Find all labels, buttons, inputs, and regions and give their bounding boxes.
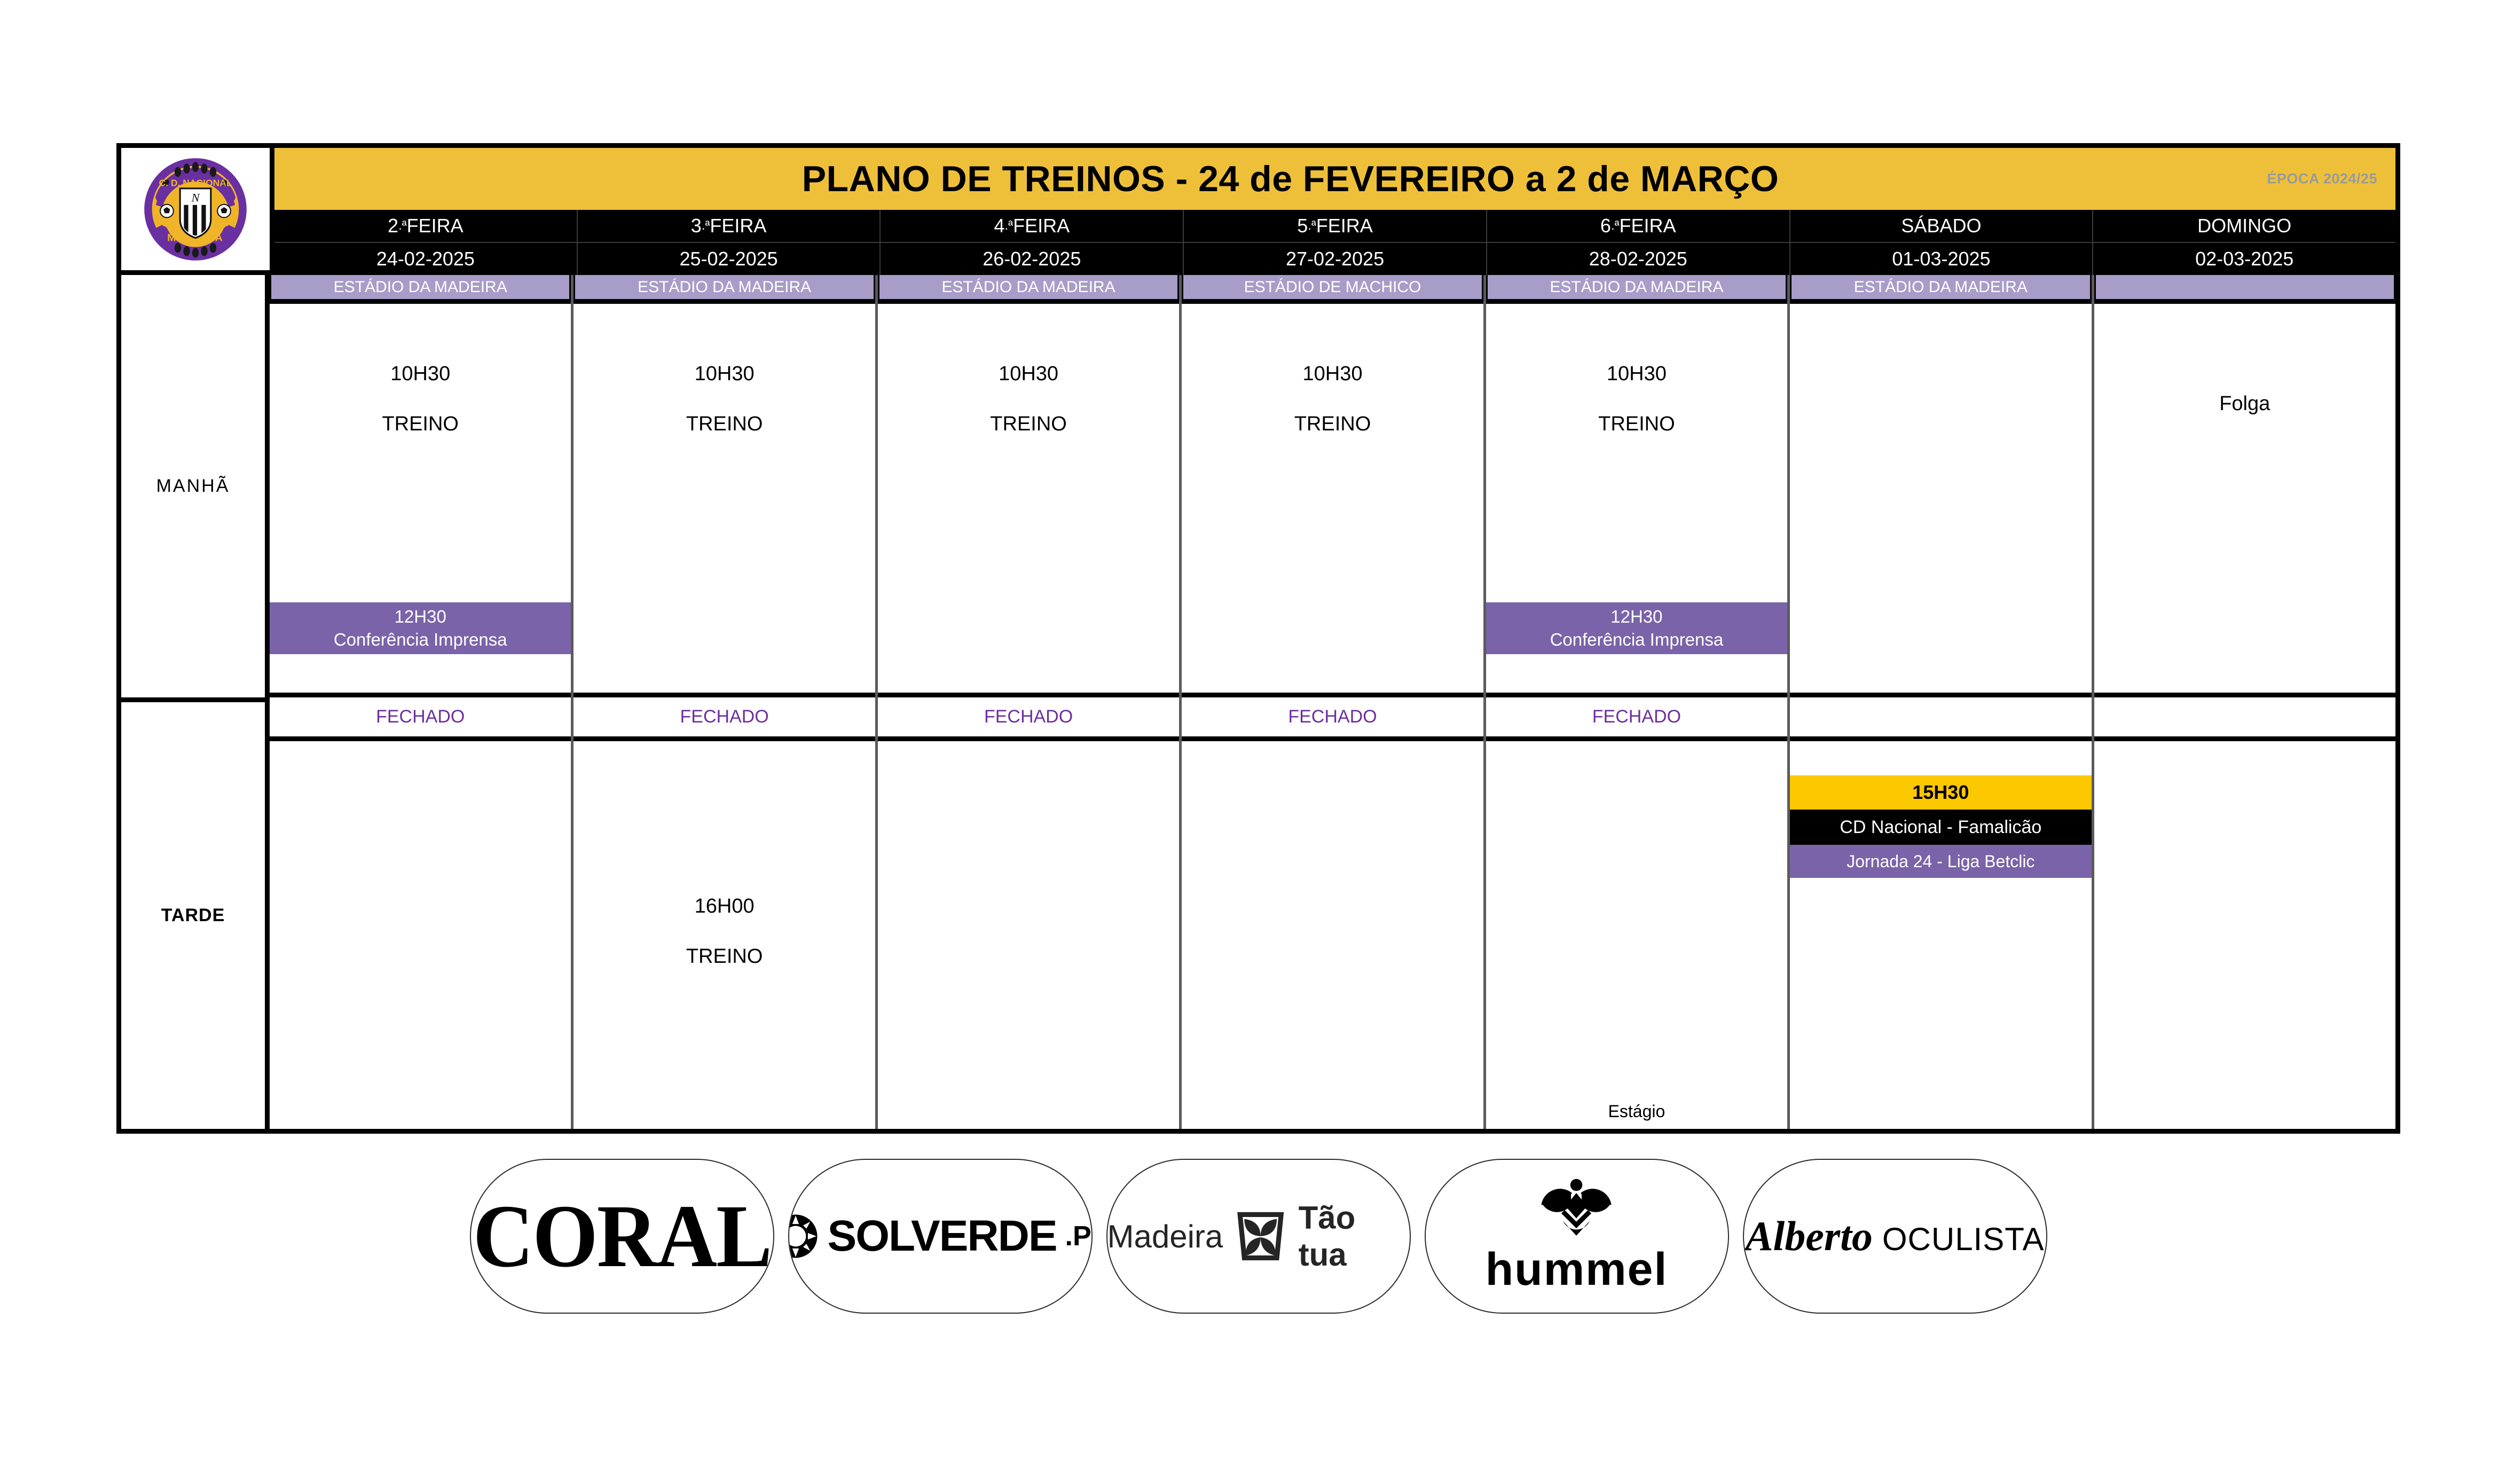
training-session: 10H30 TREINO [573, 364, 875, 434]
svg-text:C. D. NACIONAL: C. D. NACIONAL [159, 177, 232, 188]
match-time: 15H30 [1790, 775, 2091, 810]
session-kind: TREINO [1486, 414, 1787, 434]
day-date: 02-03-2025 [2093, 242, 2395, 275]
sponsor-alberto-oculista: Alberto OCULISTA [1743, 1159, 2047, 1314]
press-label: Conferência Imprensa [334, 629, 507, 651]
day-column-thursday: ESTÁDIO DE MACHICO 10H30 TREINO FECHADO [1182, 275, 1486, 1129]
madeira-wordmark: Madeira [1107, 1218, 1223, 1255]
morning-cell: 10H30 TREINO [878, 304, 1179, 697]
sponsor-madeira-taotua: Madeira Tão tua [1106, 1159, 1411, 1314]
session-kind: TREINO [686, 946, 763, 967]
day-column-sunday: Folga [2094, 275, 2395, 1129]
page-title: PLANO DE TREINOS - 24 de FEVEREIRO a 2 d… [121, 148, 2395, 210]
closed-label [2094, 697, 2395, 741]
period-label-afternoon: TARDE [121, 702, 265, 1129]
solverde-tld: .PT [1065, 1220, 1093, 1252]
training-session: 10H30 TREINO [1486, 364, 1787, 434]
day-date: 25-02-2025 [578, 242, 880, 275]
venue-bar: ESTÁDIO DE MACHICO [1182, 275, 1483, 304]
svg-text:N: N [191, 191, 200, 204]
hummel-bee-icon [1536, 1177, 1616, 1241]
afternoon-note [1182, 1121, 1483, 1129]
sponsor-solverde: SOLVERDE.PT [788, 1159, 1093, 1314]
press-time: 12H30 [395, 606, 446, 628]
press-conference-block: 12H30 Conferência Imprensa [270, 602, 571, 654]
day-header-cell: 2.ª FEIRA 24-02-2025 [274, 210, 578, 275]
schedule-board: PLANO DE TREINOS - 24 de FEVEREIRO a 2 d… [116, 143, 2400, 1134]
club-crest-container: C. D. NACIONAL MADEIRA [121, 148, 274, 275]
morning-cell: Folga [2094, 304, 2395, 697]
rest-day-label: Folga [2094, 394, 2395, 414]
closed-label: FECHADO [1182, 697, 1483, 741]
day-header-row: 2.ª FEIRA 24-02-2025 3.ª FEIRA 25-02-202… [274, 210, 2395, 275]
afternoon-cell: 16H00 TREINO [573, 741, 875, 1129]
hummel-wordmark: hummel [1486, 1243, 1668, 1296]
match-teams: CD Nacional - Famalicão [1790, 810, 2091, 845]
afternoon-cell: 15H30 CD Nacional - Famalicão Jornada 24… [1790, 741, 2091, 1129]
afternoon-note [270, 1121, 571, 1129]
day-name: DOMINGO [2093, 210, 2395, 242]
venue-bar: ESTÁDIO DA MADEIRA [878, 275, 1179, 304]
days-area: ESTÁDIO DA MADEIRA 10H30 TREINO 12H30 Co… [270, 275, 2395, 1129]
training-session [1790, 364, 2091, 394]
training-session: 10H30 TREINO [270, 364, 571, 434]
coral-wordmark: CORAL [473, 1185, 771, 1288]
day-header-cell: DOMINGO 02-03-2025 [2093, 210, 2395, 275]
afternoon-note [1790, 1121, 2091, 1129]
afternoon-cell [878, 741, 1179, 1129]
afternoon-cell: Estágio [1486, 741, 1787, 1129]
rest-day-label-wrap: Folga [2094, 364, 2395, 414]
sponsor-hummel: hummel [1425, 1159, 1729, 1314]
oculista-wordmark: OCULISTA [1882, 1221, 2045, 1258]
closed-label [1790, 697, 2091, 741]
alberto-wordmark: Alberto [1746, 1212, 1873, 1260]
session-time: 10H30 [270, 364, 571, 384]
day-name: 2.ª FEIRA [274, 210, 577, 242]
day-name: SÁBADO [1790, 210, 2093, 242]
day-column-saturday: ESTÁDIO DA MADEIRA 15H30 CD Nacio [1790, 275, 2094, 1129]
day-column-friday: ESTÁDIO DA MADEIRA 10H30 TREINO 12H30 Co… [1486, 275, 1790, 1129]
press-label: Conferência Imprensa [1550, 629, 1724, 651]
day-column-tuesday: ESTÁDIO DA MADEIRA 10H30 TREINO FECHADO [573, 275, 877, 1129]
header-banner: PLANO DE TREINOS - 24 de FEVEREIRO a 2 d… [121, 148, 2395, 210]
morning-cell: 10H30 TREINO 12H30 Conferência Imprensa [270, 304, 571, 697]
sponsor-row: CORAL SO [116, 1151, 2400, 1322]
closed-label: FECHADO [878, 697, 1179, 741]
day-header-cell: SÁBADO 01-03-2025 [1790, 210, 2094, 275]
day-column-wednesday: ESTÁDIO DA MADEIRA 10H30 TREINO FECHADO [878, 275, 1182, 1129]
session-time: 10H30 [1486, 364, 1787, 384]
season-label: ÉPOCA 2024/25 [2267, 171, 2377, 187]
morning-cell: 10H30 TREINO [1182, 304, 1483, 697]
period-column: MANHÃ TARDE [121, 275, 270, 1129]
schedule-body: MANHÃ TARDE ESTÁDIO DA MADEIRA 10H30 TRE… [121, 275, 2395, 1129]
day-date: 26-02-2025 [881, 242, 1183, 275]
day-name: 5.ª FEIRA [1184, 210, 1486, 242]
afternoon-note: Estágio [1486, 1102, 1787, 1129]
training-session: 16H00 TREINO [686, 896, 763, 967]
day-date: 24-02-2025 [274, 242, 577, 275]
session-kind: TREINO [1182, 414, 1483, 434]
match-block: 15H30 CD Nacional - Famalicão Jornada 24… [1790, 775, 2091, 878]
day-name: 4.ª FEIRA [881, 210, 1183, 242]
morning-cell: 10H30 TREINO [573, 304, 875, 697]
session-time: 10H30 [573, 364, 875, 384]
session-kind: TREINO [573, 414, 875, 434]
closed-label: FECHADO [573, 697, 875, 741]
press-time: 12H30 [1610, 606, 1662, 628]
day-header-cell: 4.ª FEIRA 26-02-2025 [881, 210, 1184, 275]
day-name: 3.ª FEIRA [578, 210, 880, 242]
morning-cell [1790, 304, 2091, 697]
butterfly-mark-icon [1234, 1208, 1287, 1264]
day-header-cell: 5.ª FEIRA 27-02-2025 [1184, 210, 1487, 275]
cd-nacional-madeira-crest-icon: C. D. NACIONAL MADEIRA [140, 154, 250, 264]
day-name: 6.ª FEIRA [1487, 210, 1789, 242]
day-column-monday: ESTÁDIO DA MADEIRA 10H30 TREINO 12H30 Co… [270, 275, 573, 1129]
period-label-morning: MANHÃ [121, 275, 265, 702]
day-date: 01-03-2025 [1790, 242, 2093, 275]
afternoon-note [573, 1121, 875, 1129]
venue-bar: ESTÁDIO DA MADEIRA [573, 275, 875, 304]
session-time: 10H30 [878, 364, 1179, 384]
afternoon-cell [270, 741, 571, 1129]
day-header-cell: 6.ª FEIRA 28-02-2025 [1487, 210, 1790, 275]
venue-bar [2094, 275, 2395, 304]
closed-label: FECHADO [270, 697, 571, 741]
training-session: 10H30 TREINO [878, 364, 1179, 434]
afternoon-cell [1182, 741, 1483, 1129]
training-plan-sheet: PLANO DE TREINOS - 24 de FEVEREIRO a 2 d… [0, 0, 2514, 1484]
press-conference-block: 12H30 Conferência Imprensa [1486, 602, 1787, 654]
session-kind: TREINO [878, 414, 1179, 434]
sponsor-coral: CORAL [470, 1159, 774, 1314]
match-round: Jornada 24 - Liga Betclic [1790, 845, 2091, 878]
training-session: 10H30 TREINO [1182, 364, 1483, 434]
solverde-wordmark: SOLVERDE [828, 1211, 1057, 1261]
morning-cell: 10H30 TREINO 12H30 Conferência Imprensa [1486, 304, 1787, 697]
day-header-cell: 3.ª FEIRA 25-02-2025 [578, 210, 881, 275]
venue-bar: ESTÁDIO DA MADEIRA [270, 275, 571, 304]
afternoon-note [878, 1121, 1179, 1129]
day-date: 27-02-2025 [1184, 242, 1486, 275]
sun-burst-icon [788, 1213, 819, 1260]
session-kind: TREINO [270, 414, 571, 434]
taotua-wordmark: Tão tua [1299, 1199, 1410, 1273]
venue-bar: ESTÁDIO DA MADEIRA [1486, 275, 1787, 304]
session-time: 16H00 [686, 896, 763, 916]
venue-bar: ESTÁDIO DA MADEIRA [1790, 275, 2091, 304]
afternoon-note [2094, 1121, 2395, 1129]
day-date: 28-02-2025 [1487, 242, 1789, 275]
session-time: 10H30 [1182, 364, 1483, 384]
afternoon-cell [2094, 741, 2395, 1129]
closed-label: FECHADO [1486, 697, 1787, 741]
